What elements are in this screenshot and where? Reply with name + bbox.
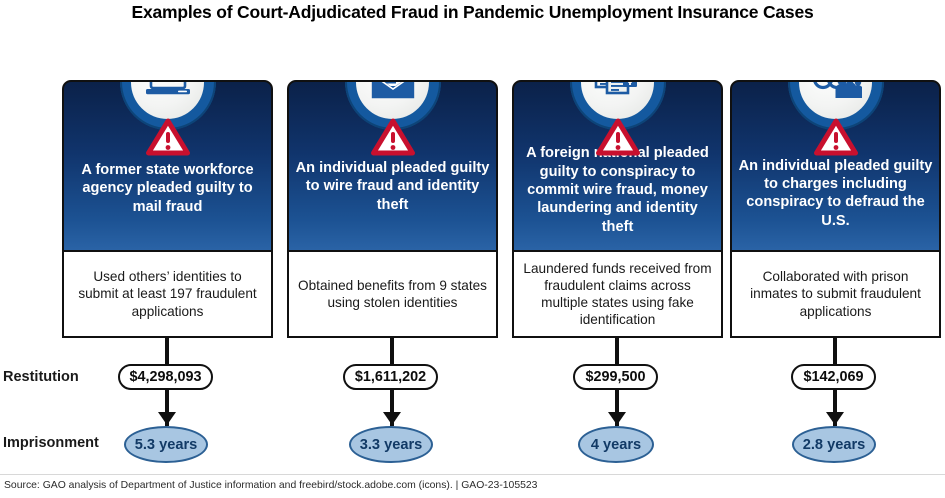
case-headline-text: An individual pleaded guilty to charges … bbox=[738, 157, 933, 231]
restitution-value: $1,611,202 bbox=[343, 364, 438, 390]
warning-triangle-icon bbox=[371, 118, 415, 161]
case-headline-card: An individual pleaded guilty to wire fra… bbox=[287, 80, 498, 252]
page-title: Examples of Court-Adjudicated Fraud in P… bbox=[0, 2, 945, 23]
case-headline-text: An individual pleaded guilty to wire fra… bbox=[295, 159, 490, 214]
case-detail-box: Laundered funds received from fraudulent… bbox=[512, 250, 723, 338]
case-headline-text: A former state workforce agency pleaded … bbox=[70, 161, 265, 216]
connector-arrow bbox=[826, 412, 844, 425]
case-column-3: A foreign national pleaded guilty to con… bbox=[512, 80, 723, 338]
envelope-letter-icon bbox=[356, 80, 429, 119]
case-detail-text: Obtained benefits from 9 states using st… bbox=[297, 277, 488, 311]
case-headline-card: ***_ A former state workforce agency ple… bbox=[62, 80, 273, 252]
restitution-value: $4,298,093 bbox=[118, 364, 213, 390]
warning-triangle-icon bbox=[814, 118, 858, 161]
imprisonment-value: 2.8 years bbox=[792, 426, 876, 463]
footer-divider bbox=[0, 474, 945, 475]
case-detail-box: Collaborated with prison inmates to subm… bbox=[730, 250, 941, 338]
imprisonment-row-label: Imprisonment bbox=[3, 435, 99, 451]
connector-arrow bbox=[158, 412, 176, 425]
case-detail-box: Used others’ identities to submit at lea… bbox=[62, 250, 273, 338]
connector-arrow bbox=[608, 412, 626, 425]
svg-text:***_: ***_ bbox=[157, 80, 180, 83]
laptop-password-icon: ***_ bbox=[131, 80, 204, 119]
case-detail-box: Obtained benefits from 9 states using st… bbox=[287, 250, 498, 338]
restitution-value: $142,069 bbox=[791, 364, 876, 390]
imprisonment-value: 3.3 years bbox=[349, 426, 433, 463]
case-detail-text: Collaborated with prison inmates to subm… bbox=[740, 268, 931, 319]
case-detail-text: Laundered funds received from fraudulent… bbox=[522, 260, 713, 329]
case-headline-card: An individual pleaded guilty to charges … bbox=[730, 80, 941, 252]
handcuffs-people-icon bbox=[799, 80, 872, 119]
restitution-row-label: Restitution bbox=[3, 369, 79, 385]
imprisonment-value: 5.3 years bbox=[124, 426, 208, 463]
warning-triangle-icon bbox=[596, 118, 640, 161]
case-column-1: ***_ A former state workforce agency ple… bbox=[62, 80, 273, 338]
documents-padlock-icon bbox=[581, 80, 654, 119]
restitution-value: $299,500 bbox=[573, 364, 658, 390]
case-column-4: An individual pleaded guilty to charges … bbox=[730, 80, 941, 338]
case-detail-text: Used others’ identities to submit at lea… bbox=[72, 268, 263, 319]
warning-triangle-icon bbox=[146, 118, 190, 161]
connector-arrow bbox=[383, 412, 401, 425]
imprisonment-value: 4 years bbox=[578, 426, 654, 463]
case-headline-card: A foreign national pleaded guilty to con… bbox=[512, 80, 723, 252]
case-column-2: An individual pleaded guilty to wire fra… bbox=[287, 80, 498, 338]
source-note: Source: GAO analysis of Department of Ju… bbox=[4, 480, 537, 491]
